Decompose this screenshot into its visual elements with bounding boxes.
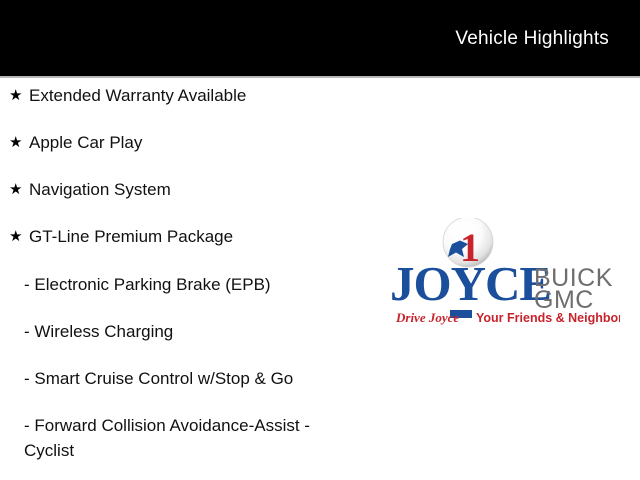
list-item: ★ Apple Car Play <box>0 131 400 178</box>
vehicle-highlights-list: ★ Extended Warranty Available ★ Apple Ca… <box>0 84 400 463</box>
dealer-logo-graphic: 1 JOYCE BUICK GMC Drive Joyce Your Frien… <box>388 218 620 330</box>
list-item: ★ Extended Warranty Available <box>0 84 400 131</box>
tagline-friends-neighbors: Your Friends & Neighbors Do! <box>476 311 620 325</box>
highlight-label: Extended Warranty Available <box>29 84 246 108</box>
sub-highlight-label: - Smart Cruise Control w/Stop & Go <box>24 366 293 391</box>
list-item: ★ GT-Line Premium Package <box>0 225 400 272</box>
sub-highlight-label: - Electronic Parking Brake (EPB) <box>24 272 271 297</box>
list-item: - Smart Cruise Control w/Stop & Go <box>0 366 360 413</box>
list-item: - Forward Collision Avoidance-Assist - C… <box>0 413 360 463</box>
header-bar: Vehicle Highlights <box>0 0 640 76</box>
tagline-drive-joyce: Drive Joyce <box>395 310 459 325</box>
dealer-name-text: JOYCE <box>390 256 551 311</box>
highlight-label: Apple Car Play <box>29 131 142 155</box>
star-icon: ★ <box>9 178 29 202</box>
sub-highlight-label: - Forward Collision Avoidance-Assist - C… <box>24 413 360 463</box>
list-item: - Electronic Parking Brake (EPB) <box>0 272 360 319</box>
star-icon: ★ <box>9 131 29 155</box>
star-icon: ★ <box>9 84 29 108</box>
highlight-label: Navigation System <box>29 178 171 202</box>
highlight-label: GT-Line Premium Package <box>29 225 233 249</box>
header-divider <box>0 76 640 78</box>
sub-highlight-label: - Wireless Charging <box>24 319 173 344</box>
page-title: Vehicle Highlights <box>455 28 609 50</box>
brand-gmc-text: GMC <box>534 286 594 314</box>
star-icon: ★ <box>9 225 29 249</box>
list-item: - Wireless Charging <box>0 319 360 366</box>
dealer-logo: 1 JOYCE BUICK GMC Drive Joyce Your Frien… <box>388 218 620 330</box>
list-item: ★ Navigation System <box>0 178 400 225</box>
